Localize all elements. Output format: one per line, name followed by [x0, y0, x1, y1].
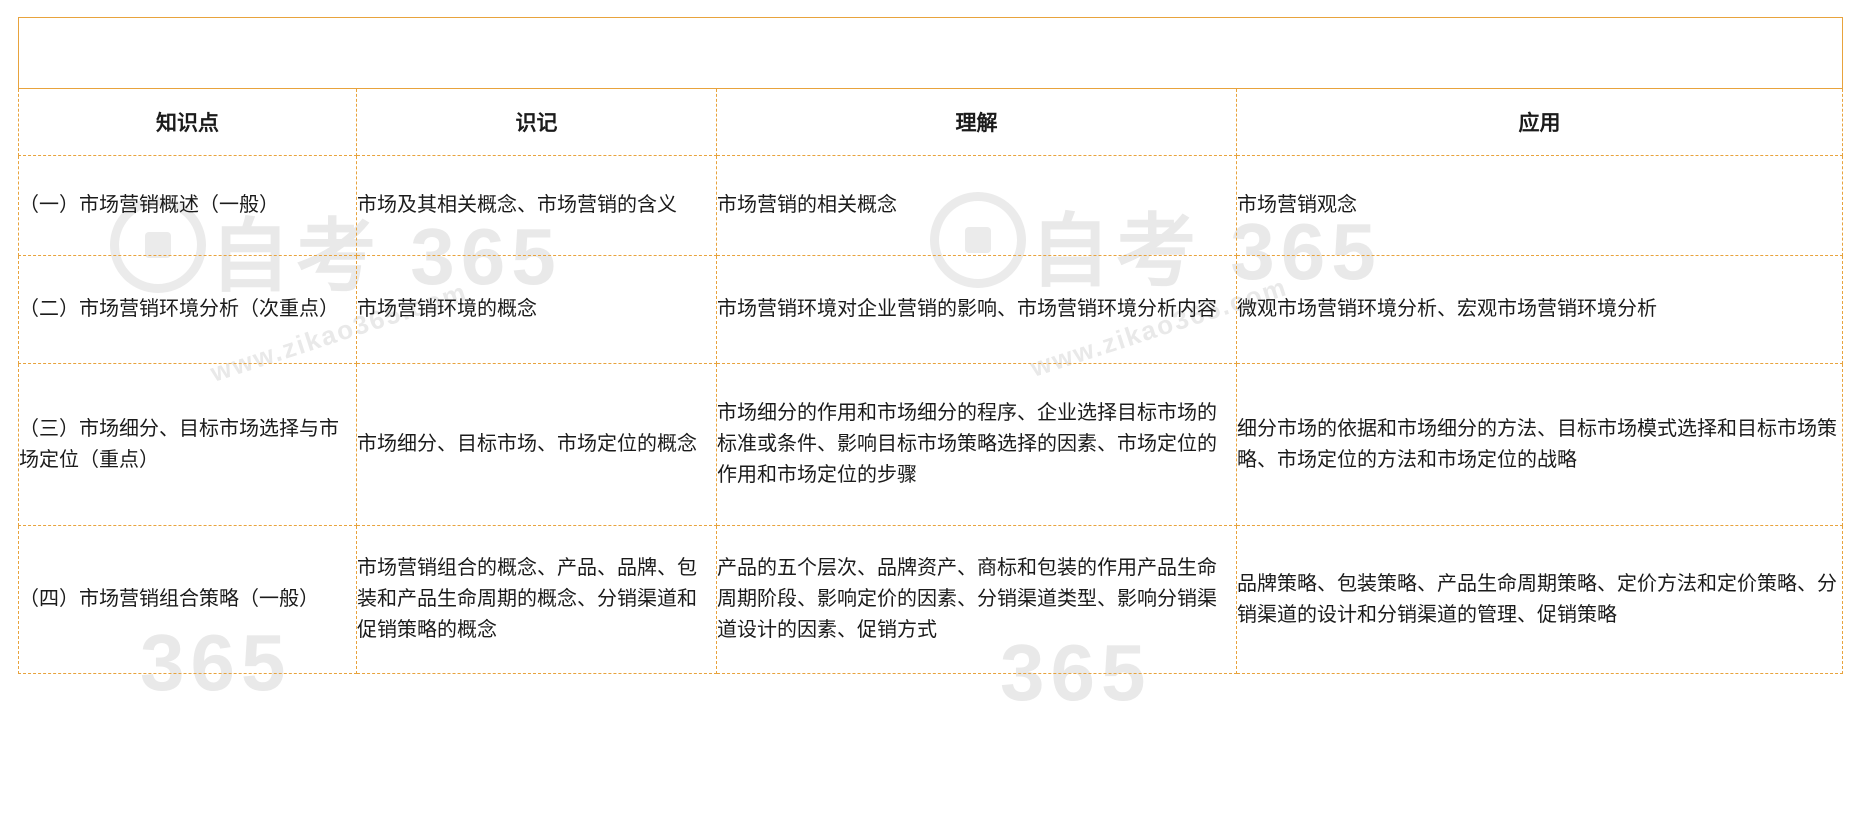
cell-knowledge-point: （三）市场细分、目标市场选择与市场定位（重点） — [19, 364, 357, 526]
cell-application: 市场营销观念 — [1237, 156, 1843, 256]
cell-comprehension: 产品的五个层次、品牌资产、商标和包装的作用产品生命周期阶段、影响定价的因素、分销… — [717, 526, 1237, 674]
cell-comprehension: 市场细分的作用和市场细分的程序、企业选择目标市场的标准或条件、影响目标市场策略选… — [717, 364, 1237, 526]
cell-application: 品牌策略、包装策略、产品生命周期策略、定价方法和定价策略、分销渠道的设计和分销渠… — [1237, 526, 1843, 674]
cell-comprehension: 市场营销的相关概念 — [717, 156, 1237, 256]
cell-knowledge-point: （一）市场营销概述（一般） — [19, 156, 357, 256]
page-title: 第九章 企业市场营销管理 — [19, 18, 1843, 89]
cell-recognition: 市场及其相关概念、市场营销的含义 — [357, 156, 717, 256]
chapter-table: 第九章 企业市场营销管理 知识点 识记 理解 应用 （一）市场营销概述（一般） … — [18, 17, 1843, 674]
cell-comprehension: 市场营销环境对企业营销的影响、市场营销环境分析内容 — [717, 256, 1237, 364]
table-title-row: 第九章 企业市场营销管理 — [19, 18, 1843, 89]
table-row: （四）市场营销组合策略（一般） 市场营销组合的概念、产品、品牌、包装和产品生命周… — [19, 526, 1843, 674]
cell-recognition: 市场营销环境的概念 — [357, 256, 717, 364]
cell-recognition: 市场细分、目标市场、市场定位的概念 — [357, 364, 717, 526]
cell-application: 微观市场营销环境分析、宏观市场营销环境分析 — [1237, 256, 1843, 364]
column-header-application: 应用 — [1237, 89, 1843, 156]
column-header-comprehension: 理解 — [717, 89, 1237, 156]
column-header-recognition: 识记 — [357, 89, 717, 156]
chapter-table-wrapper: 第九章 企业市场营销管理 知识点 识记 理解 应用 （一）市场营销概述（一般） … — [18, 17, 1842, 674]
cell-application: 细分市场的依据和市场细分的方法、目标市场模式选择和目标市场策略、市场定位的方法和… — [1237, 364, 1843, 526]
table-row: （一）市场营销概述（一般） 市场及其相关概念、市场营销的含义 市场营销的相关概念… — [19, 156, 1843, 256]
cell-knowledge-point: （四）市场营销组合策略（一般） — [19, 526, 357, 674]
table-row: （二）市场营销环境分析（次重点） 市场营销环境的概念 市场营销环境对企业营销的影… — [19, 256, 1843, 364]
document-page: 自考 365 www.zikao365.com 自考 365 www.zikao… — [0, 17, 1860, 817]
table-header-row: 知识点 识记 理解 应用 — [19, 89, 1843, 156]
table-row: （三）市场细分、目标市场选择与市场定位（重点） 市场细分、目标市场、市场定位的概… — [19, 364, 1843, 526]
cell-recognition: 市场营销组合的概念、产品、品牌、包装和产品生命周期的概念、分销渠道和促销策略的概… — [357, 526, 717, 674]
column-header-knowledge-point: 知识点 — [19, 89, 357, 156]
cell-knowledge-point: （二）市场营销环境分析（次重点） — [19, 256, 357, 364]
